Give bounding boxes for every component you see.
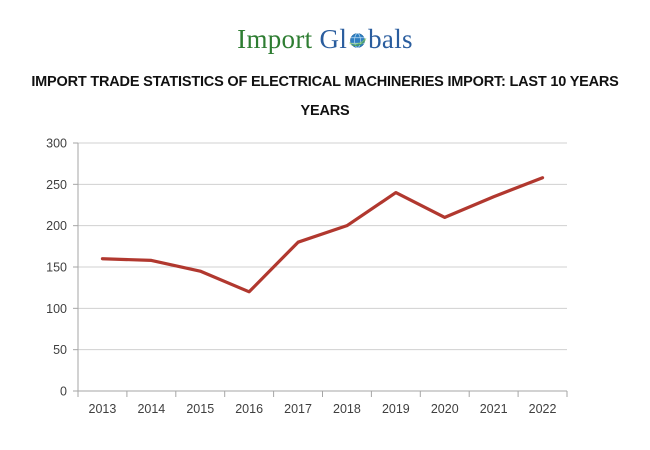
line-chart: 050100150200250300 201320142015201620172… [0,133,650,433]
x-tick-label: 2016 [235,402,263,416]
x-tick-label: 2017 [284,402,312,416]
x-axis-labels: 2013201420152016201720182019202020212022 [89,402,557,416]
chart-plot-area: 050100150200250300 201320142015201620172… [0,133,650,433]
x-tick-label: 2021 [480,402,508,416]
y-tick-label: 250 [46,178,67,192]
brand-logo-text: Import Gl bals [237,26,413,56]
brand-word-bals: bals [368,24,413,54]
y-axis-labels: 050100150200250300 [46,137,67,399]
y-tick-label: 150 [46,261,67,275]
x-tick-label: 2013 [89,402,117,416]
chart-subtitle: YEARS [0,103,650,119]
x-tick-label: 2022 [529,402,557,416]
y-tick-label: 100 [46,302,67,316]
x-axis-ticks [78,391,567,397]
x-tick-label: 2015 [186,402,214,416]
y-tick-label: 50 [53,343,67,357]
chart-title: IMPORT TRADE STATISTICS OF ELECTRICAL MA… [0,74,650,90]
globe-icon [347,29,368,56]
data-series-line [102,178,542,292]
x-tick-label: 2020 [431,402,459,416]
x-tick-label: 2018 [333,402,361,416]
y-tick-label: 0 [60,385,67,399]
brand-logo: Import Gl bals [0,0,650,60]
x-tick-label: 2014 [137,402,165,416]
brand-word-gl: Gl [320,24,348,54]
y-tick-label: 200 [46,219,67,233]
chart-gridlines [78,143,567,391]
x-tick-label: 2019 [382,402,410,416]
brand-word-import: Import [237,24,312,54]
y-axis-ticks [73,143,78,391]
y-tick-label: 300 [46,137,67,151]
